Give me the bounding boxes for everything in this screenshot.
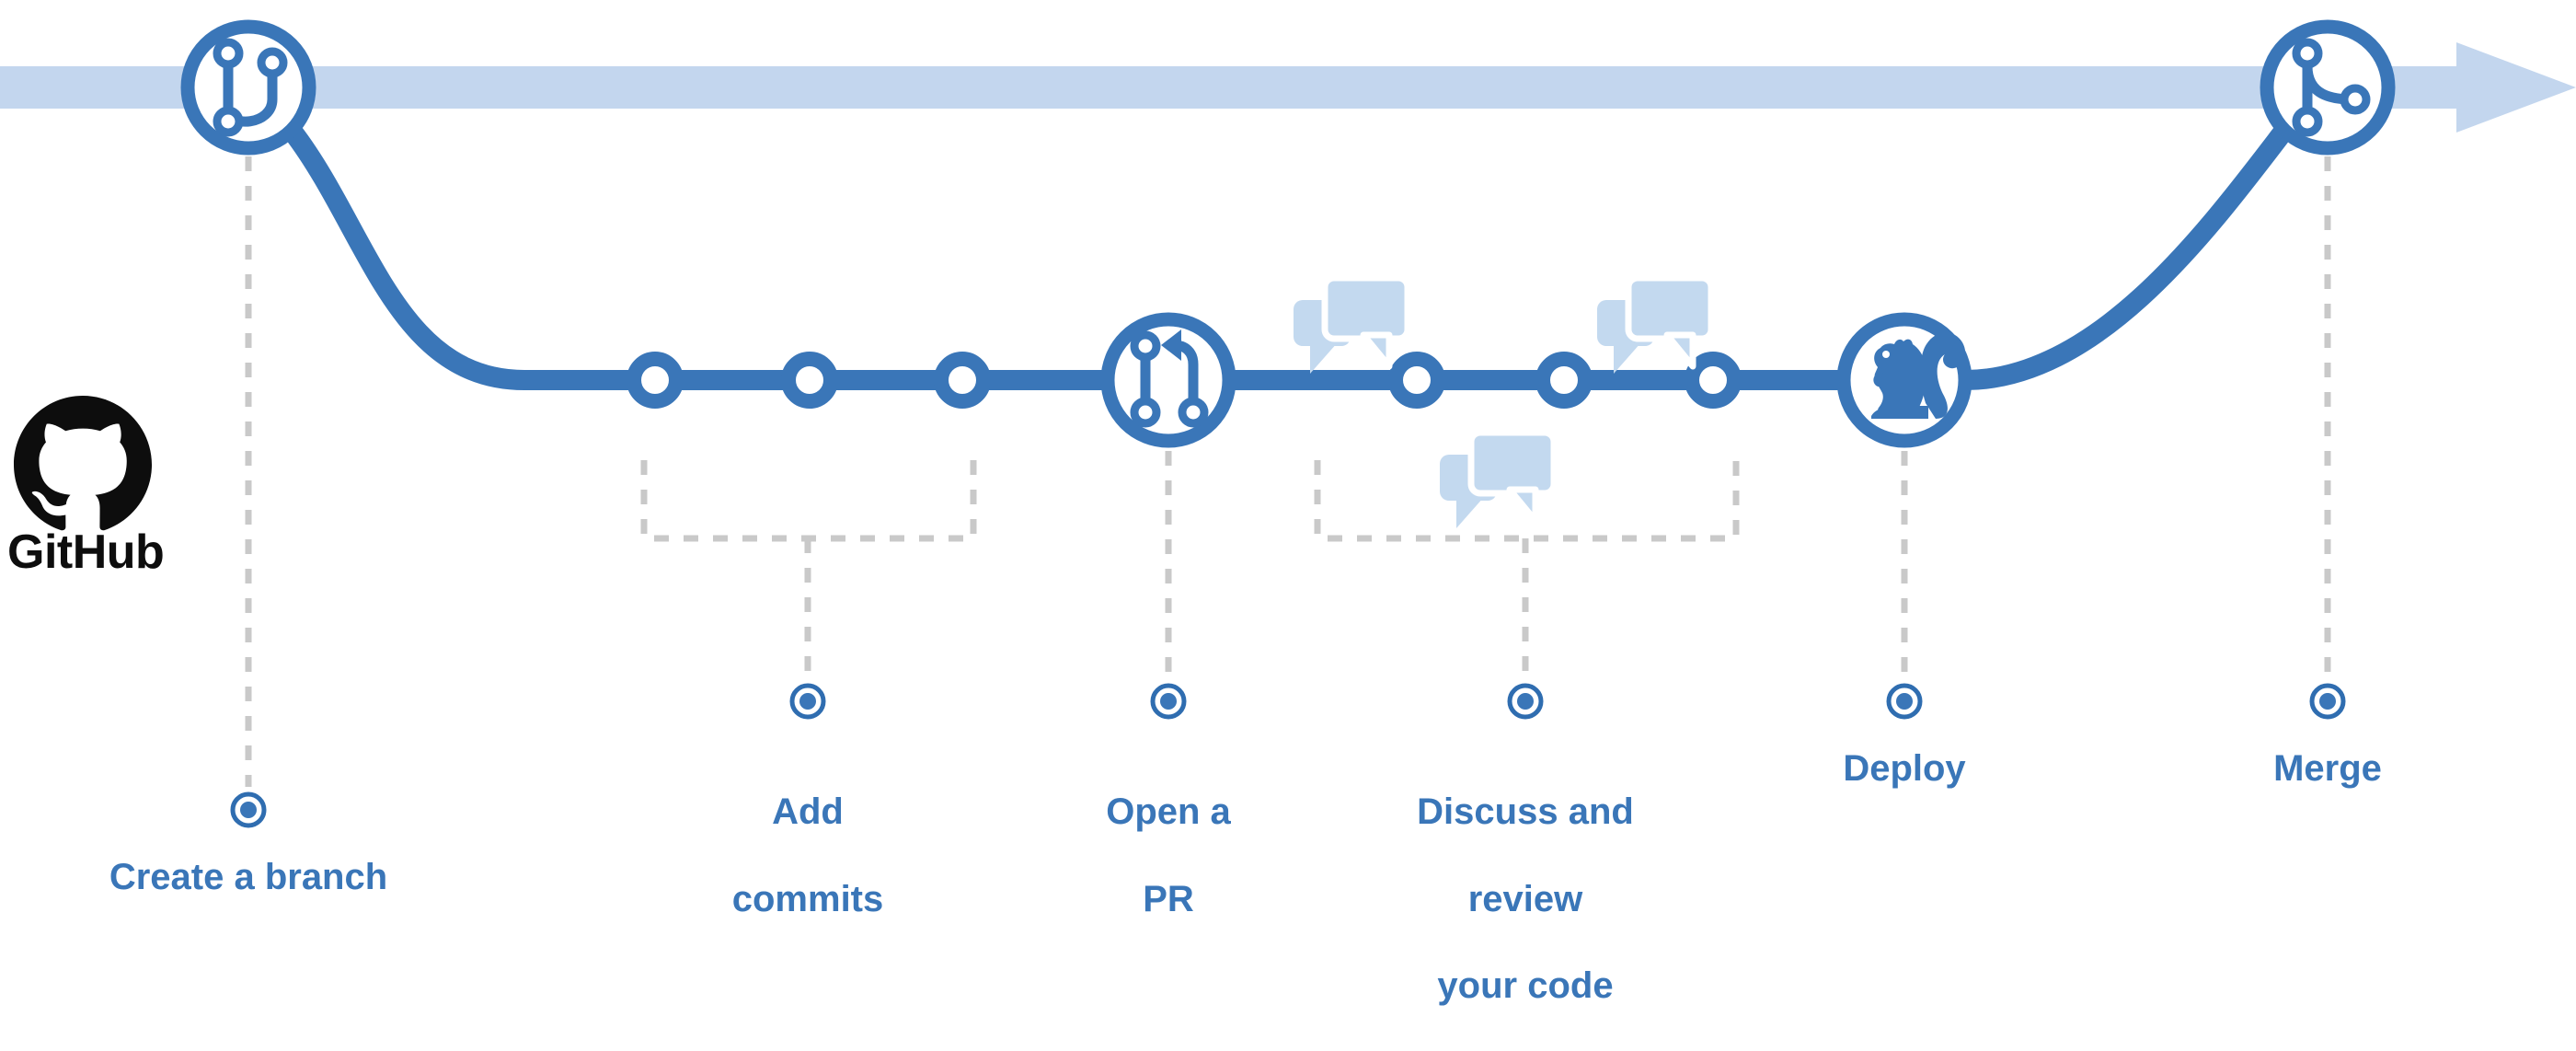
feature-branch-path: [293, 132, 2283, 380]
commit-node: [634, 359, 676, 401]
step-label-line: your code: [1417, 964, 1634, 1008]
node-deploy[interactable]: [1844, 319, 1965, 441]
commit-node: [788, 359, 831, 401]
github-flow-diagram: GitHub Create a branch Add commits Open …: [0, 0, 2576, 906]
github-octocat-icon: [14, 396, 152, 530]
step-label-line: Discuss and: [1417, 791, 1634, 834]
step-label-merge: Merge: [2273, 747, 2382, 791]
step-label-deploy: Deploy: [1843, 747, 1965, 791]
comment-bubble-large: [1628, 278, 1711, 366]
node-create-a-branch[interactable]: [188, 27, 309, 148]
ring-dot-marker-deploy[interactable]: [1889, 686, 1920, 717]
comment-bubble-large: [1325, 278, 1408, 366]
commit-node: [941, 359, 983, 401]
step-label-line: Add: [732, 791, 884, 834]
github-brand-label: GitHub: [7, 525, 164, 580]
comment-bubble-pair: [1597, 278, 1711, 374]
ring-dot-marker-merge[interactable]: [2312, 686, 2343, 717]
step-label-line: commits: [732, 878, 884, 921]
commit-node: [1396, 359, 1438, 401]
node-merge[interactable]: [2267, 27, 2388, 148]
comment-bubble-pair: [1294, 278, 1408, 374]
commit-node: [1543, 359, 1585, 401]
step-label-create-a-branch: Create a branch: [109, 856, 387, 899]
step-label-add-commits: Add commits: [732, 747, 884, 964]
comment-bubble-large: [1471, 433, 1554, 521]
step-label-discuss-and-review-your-code: Discuss and review your code: [1417, 747, 1634, 1051]
node-open-a-pr[interactable]: [1108, 319, 1229, 441]
ring-dot-marker-open-pr[interactable]: [1153, 686, 1184, 717]
ring-dot-marker-add-commits[interactable]: [792, 686, 823, 717]
comment-bubble-pair: [1440, 433, 1554, 528]
commit-node: [1692, 359, 1734, 401]
step-label-line: Open a: [1106, 791, 1231, 834]
main-branch-arrow: [0, 42, 2576, 133]
step-label-line: review: [1417, 878, 1634, 921]
flow-canvas: [0, 0, 2576, 906]
step-label-line: PR: [1106, 878, 1231, 921]
dashed-leaders: [248, 156, 2328, 787]
ring-dot-marker-discuss[interactable]: [1510, 686, 1541, 717]
step-label-open-a-pr: Open a PR: [1106, 747, 1231, 964]
dashed-bracket-add-commits: [644, 460, 973, 538]
ring-dot-marker-create-branch[interactable]: [233, 794, 264, 826]
ring-dot-markers: [233, 686, 2343, 826]
